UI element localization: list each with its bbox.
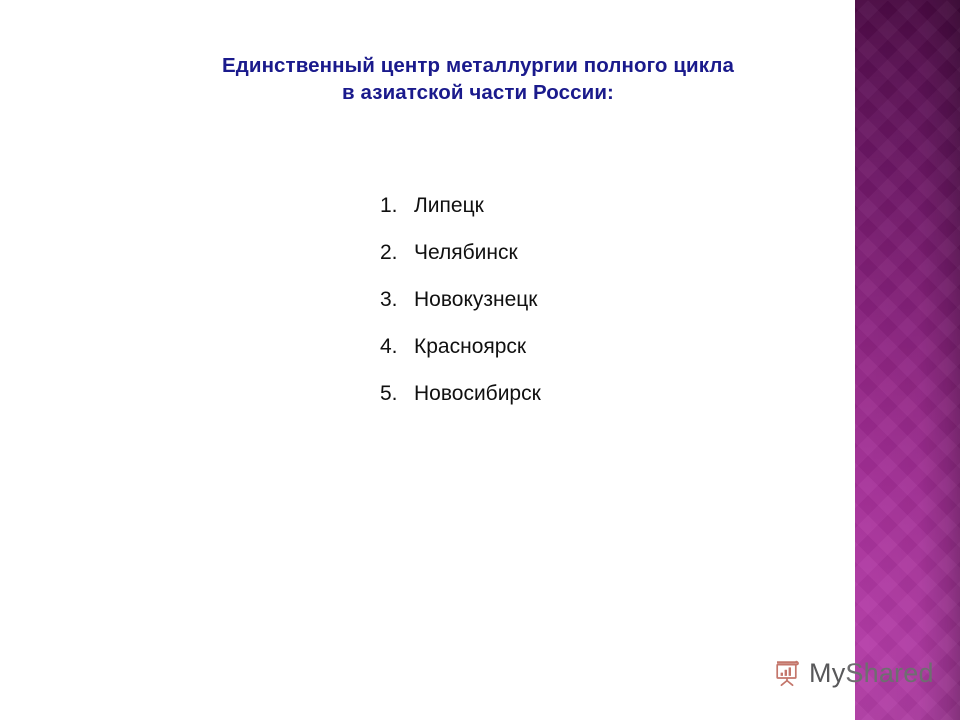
watermark-text-shared: Shared	[845, 658, 933, 688]
list-item-number: 1.	[380, 182, 414, 229]
list-item-label: Новосибирск	[414, 370, 800, 417]
list-item[interactable]: 3. Новокузнецк	[380, 276, 800, 323]
page-title-line-2: в азиатской части России:	[120, 79, 836, 106]
list-item[interactable]: 1. Липецк	[380, 182, 800, 229]
list-item-number: 2.	[380, 229, 414, 276]
list-item-number: 4.	[380, 323, 414, 370]
page-title: Единственный центр металлургии полного ц…	[120, 52, 836, 106]
slide-canvas: Единственный центр металлургии полного ц…	[0, 0, 960, 720]
flipchart-bar-chart-icon	[772, 658, 802, 688]
list-item-label: Красноярск	[414, 323, 800, 370]
list-item[interactable]: 4. Красноярск	[380, 323, 800, 370]
list-item-label: Новокузнецк	[414, 276, 800, 323]
list-item-number: 5.	[380, 370, 414, 417]
decorative-side-band	[855, 0, 960, 720]
list-item[interactable]: 2. Челябинск	[380, 229, 800, 276]
list-item[interactable]: 5. Новосибирск	[380, 370, 800, 417]
watermark-text-my: My	[809, 658, 845, 688]
list-item-label: Челябинск	[414, 229, 800, 276]
answer-options-list: 1. Липецк 2. Челябинск 3. Новокузнецк 4.…	[380, 182, 800, 417]
myshared-watermark: MyShared	[772, 653, 934, 693]
list-item-number: 3.	[380, 276, 414, 323]
diamond-texture-overlay	[855, 0, 960, 720]
myshared-wordmark: MyShared	[809, 658, 934, 688]
list-item-label: Липецк	[414, 182, 800, 229]
page-title-line-1: Единственный центр металлургии полного ц…	[120, 52, 836, 79]
